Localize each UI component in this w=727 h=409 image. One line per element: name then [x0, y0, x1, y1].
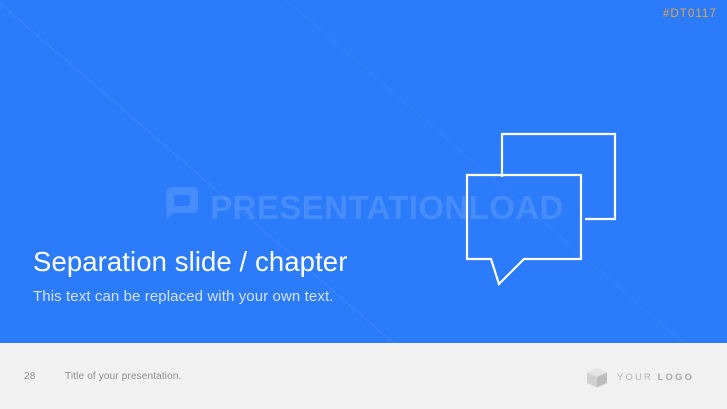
page-number: 28	[24, 371, 36, 382]
logo-text-normal: YOUR	[617, 372, 658, 383]
speech-bubble-p-icon	[163, 187, 201, 227]
cube-icon	[586, 366, 608, 389]
logo-text-bold: LOGO	[658, 372, 694, 383]
headline-block: Separation slide / chapter This text can…	[33, 246, 463, 306]
logo-text: YOUR LOGO	[617, 372, 694, 383]
footer-title: Title of your presentation.	[65, 371, 182, 382]
slide-stage: PRESENTATIONLOAD Separation slide / chap…	[0, 0, 727, 343]
page-subtitle: This text can be replaced with your own …	[33, 288, 463, 306]
presentation-slide: PRESENTATIONLOAD Separation slide / chap…	[0, 0, 727, 409]
logo-placeholder: YOUR LOGO	[586, 365, 694, 389]
front-bubble-icon	[467, 175, 581, 284]
template-code-tag: #DT0117	[663, 8, 717, 20]
page-title: Separation slide / chapter	[33, 246, 463, 278]
speech-bubbles-artwork	[455, 120, 630, 295]
back-bubble-icon	[502, 134, 615, 219]
